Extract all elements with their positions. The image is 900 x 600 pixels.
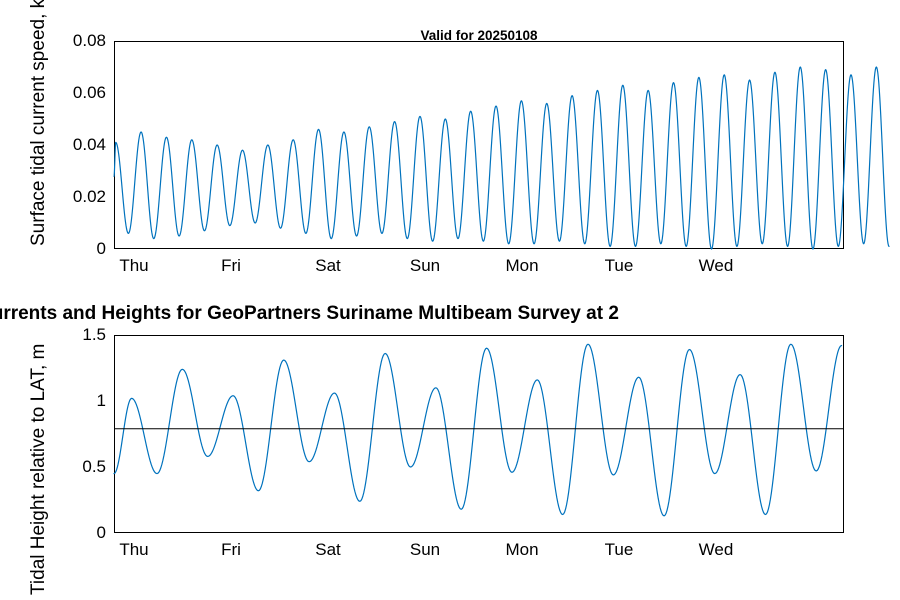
heights-plot — [0, 0, 900, 600]
figure-root: Valid for 20250108 Surface tidal current… — [0, 0, 900, 600]
